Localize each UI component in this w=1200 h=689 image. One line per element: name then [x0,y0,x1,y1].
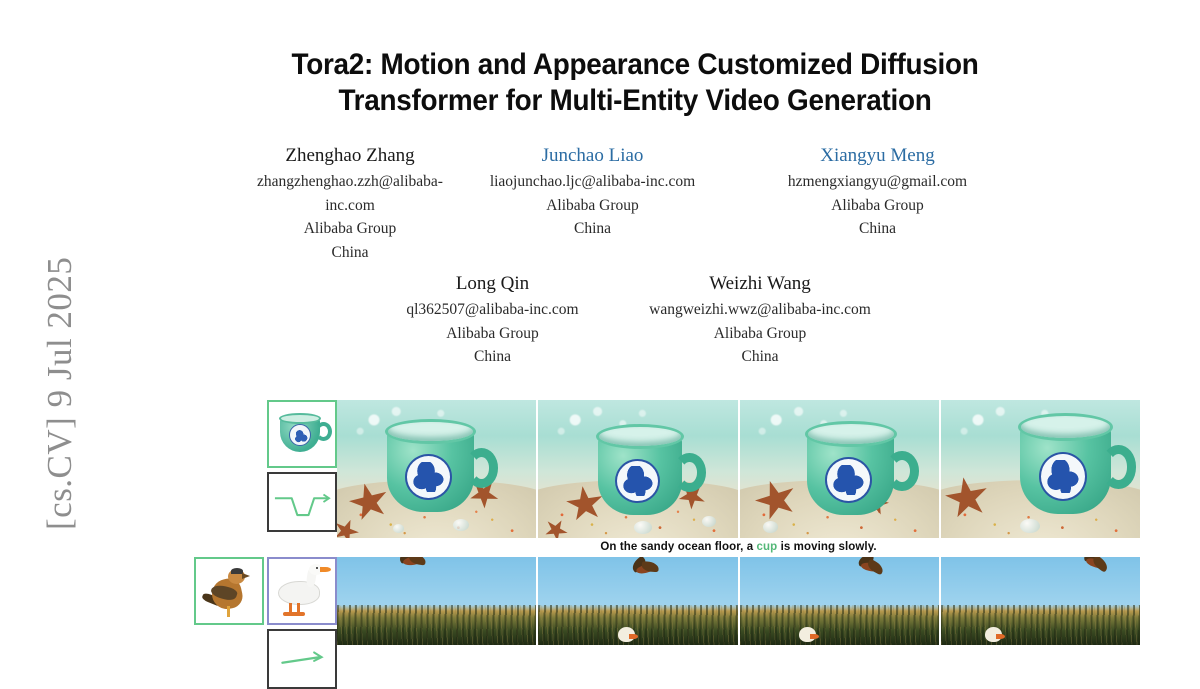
trajectory-path-arrow [269,631,335,687]
author-block: Junchao Liao liaojunchao.ljc@alibaba-inc… [450,144,735,241]
authors-row-1: Zhenghao Zhang zhangzhenghao.zzh@alibaba… [70,144,1200,264]
page-title: Tora2: Motion and Appearance Customized … [70,47,1200,119]
video-frame-2[interactable] [538,557,737,645]
author-email[interactable]: liaojunchao.ljc@alibaba-inc.com [456,170,729,194]
author-block: Zhenghao Zhang zhangzhenghao.zzh@alibaba… [250,144,450,264]
authors-row-2: Long Qin ql362507@alibaba-inc.com Alibab… [70,272,1200,369]
trajectory-box-cup[interactable] [267,472,337,532]
author-country: China [256,241,444,265]
author-block: Xiangyu Meng hzmengxiangyu@gmail.com Ali… [735,144,1020,241]
caption-entity-cup: cup [757,541,778,553]
author-country: China [624,345,897,369]
figure-caption-cup: On the sandy ocean floor, a cup is movin… [130,541,1140,553]
video-frame-1[interactable] [337,400,536,538]
cup-illustration [269,402,335,466]
author-name: Weizhi Wang [624,272,897,296]
author-organization: Alibaba Group [456,194,729,218]
author-organization: Alibaba Group [624,322,897,346]
figure-row-cup [130,400,1140,538]
caption-text-before: On the sandy ocean floor, a [600,541,756,553]
goose-illustration [269,559,335,623]
author-organization: Alibaba Group [374,322,612,346]
author-name[interactable]: Junchao Liao [456,144,729,168]
author-block: Long Qin ql362507@alibaba-inc.com Alibab… [368,272,618,369]
paper-page: Tora2: Motion and Appearance Customized … [70,0,1200,648]
bird-illustration [196,559,262,623]
video-frame-4[interactable] [941,557,1140,645]
video-frame-3[interactable] [740,400,939,538]
author-email[interactable]: zhangzhenghao.zzh@alibaba-inc.com [256,170,444,217]
author-email[interactable]: wangweizhi.wwz@alibaba-inc.com [624,298,897,322]
trajectory-box-bird[interactable] [267,629,337,689]
reference-image-list [194,557,337,625]
author-name: Long Qin [374,272,612,296]
video-frame-1[interactable] [337,557,536,645]
reference-image-cup[interactable] [267,400,337,468]
title-line-1: Tora2: Motion and Appearance Customized … [212,47,1058,83]
video-frame-4[interactable] [941,400,1140,538]
author-email[interactable]: hzmengxiangyu@gmail.com [741,170,1014,194]
author-block: Weizhi Wang wangweizhi.wwz@alibaba-inc.c… [618,272,903,369]
author-email[interactable]: ql362507@alibaba-inc.com [374,298,612,322]
author-name[interactable]: Xiangyu Meng [741,144,1014,168]
arxiv-stamp: [cs.CV] 9 Jul 2025 [0,0,70,648]
author-country: China [456,217,729,241]
video-frame-2[interactable] [538,400,737,538]
reference-column [130,400,337,532]
author-name: Zhenghao Zhang [256,144,444,168]
teaser-figure: On the sandy ocean floor, a cup is movin… [130,400,1140,689]
author-country: China [741,217,1014,241]
caption-text-after: is moving slowly. [777,541,876,553]
title-line-2: Transformer for Multi-Entity Video Gener… [212,83,1058,119]
author-country: China [374,345,612,369]
video-frame-strip-cup [337,400,1140,538]
author-organization: Alibaba Group [741,194,1014,218]
video-frame-strip-bird [337,557,1140,645]
video-frame-3[interactable] [740,557,939,645]
author-organization: Alibaba Group [256,217,444,241]
reference-image-bird[interactable] [194,557,264,625]
reference-image-list [267,400,337,468]
reference-column [130,557,337,689]
reference-image-goose[interactable] [267,557,337,625]
figure-row-bird [130,557,1140,689]
trajectory-path-v [269,474,335,530]
